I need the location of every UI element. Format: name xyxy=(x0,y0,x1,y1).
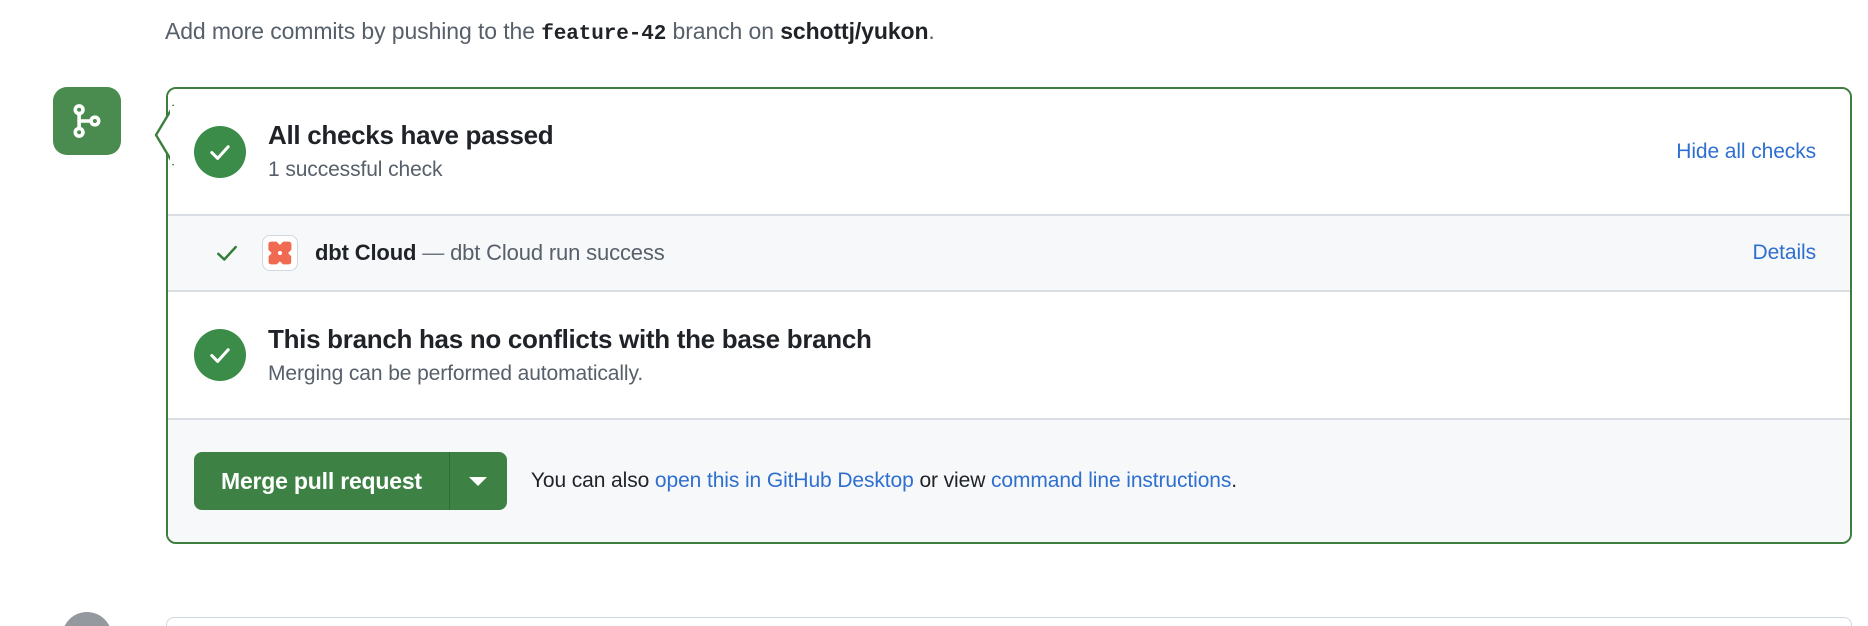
check-row-label: dbt Cloud — dbt Cloud run success xyxy=(315,240,1729,266)
check-row: dbt Cloud — dbt Cloud run success Detail… xyxy=(168,214,1850,290)
next-timeline-avatar xyxy=(62,612,112,626)
push-hint-middle: branch on xyxy=(666,18,780,44)
merge-status-box: All checks have passed 1 successful chec… xyxy=(166,87,1852,544)
hide-all-checks-link[interactable]: Hide all checks xyxy=(1676,140,1826,164)
conflicts-title: This branch has no conflicts with the ba… xyxy=(268,322,1826,356)
merge-hint-middle: or view xyxy=(914,469,991,492)
merge-hint-suffix: . xyxy=(1231,469,1237,492)
check-icon xyxy=(212,238,242,268)
checks-summary-section: All checks have passed 1 successful chec… xyxy=(168,89,1850,214)
dbt-cloud-logo-icon xyxy=(262,235,298,271)
check-circle-icon xyxy=(194,329,246,381)
git-merge-icon xyxy=(69,103,105,139)
checks-summary-text: All checks have passed 1 successful chec… xyxy=(268,118,1652,185)
merge-alternatives-hint: You can also open this in GitHub Desktop… xyxy=(531,469,1237,493)
conflicts-text: This branch has no conflicts with the ba… xyxy=(268,322,1826,389)
conflicts-section: This branch has no conflicts with the ba… xyxy=(168,290,1850,418)
merge-hint-prefix: You can also xyxy=(531,469,655,492)
checks-summary-subtitle: 1 successful check xyxy=(268,155,1652,185)
check-description: dbt Cloud run success xyxy=(450,240,665,265)
chevron-down-icon xyxy=(469,477,487,486)
push-commits-hint: Add more commits by pushing to the featu… xyxy=(165,16,935,50)
check-details-link[interactable]: Details xyxy=(1753,241,1827,265)
check-separator: — xyxy=(422,240,444,265)
check-context-name: dbt Cloud xyxy=(315,240,416,265)
command-line-instructions-link[interactable]: command line instructions xyxy=(991,469,1231,492)
merge-action-section: Merge pull request You can also open thi… xyxy=(168,418,1850,542)
pull-request-merge-panel: Add more commits by pushing to the featu… xyxy=(0,0,1868,626)
push-hint-prefix: Add more commits by pushing to the xyxy=(165,18,541,44)
merge-button-group: Merge pull request xyxy=(194,452,507,510)
github-desktop-link[interactable]: open this in GitHub Desktop xyxy=(655,469,914,492)
git-merge-badge xyxy=(53,87,121,155)
check-circle-icon xyxy=(194,126,246,178)
branch-name: feature-42 xyxy=(541,23,666,46)
merge-options-dropdown-button[interactable] xyxy=(450,452,507,510)
repository-name: schottj/yukon xyxy=(780,18,928,44)
checks-summary-title: All checks have passed xyxy=(268,118,1652,152)
conflicts-subtitle: Merging can be performed automatically. xyxy=(268,359,1826,389)
next-timeline-box xyxy=(166,617,1852,626)
merge-pull-request-button[interactable]: Merge pull request xyxy=(194,452,450,510)
push-hint-suffix: . xyxy=(928,18,934,44)
